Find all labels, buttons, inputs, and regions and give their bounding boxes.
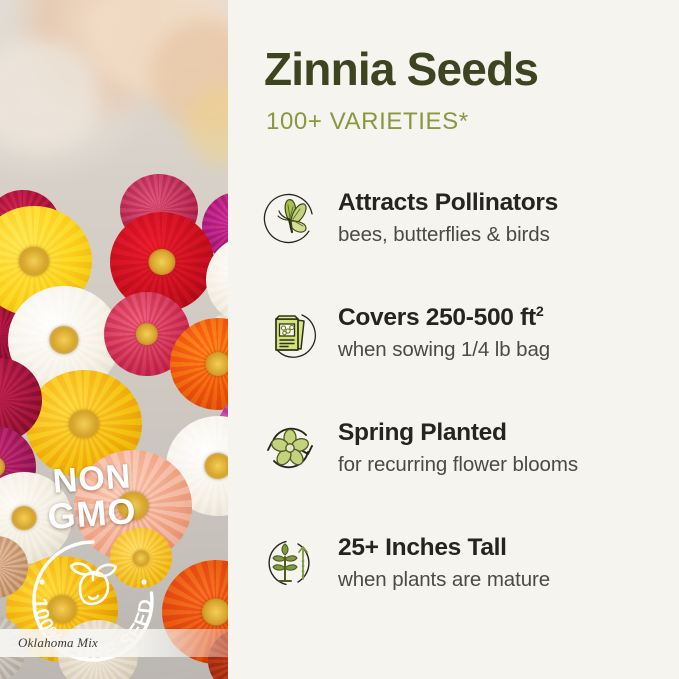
product-infographic: NON GMO 100% PURE SEED: [0, 0, 679, 679]
product-photo: NON GMO 100% PURE SEED: [0, 0, 228, 679]
feature-subtitle: when plants are mature: [338, 567, 550, 593]
feature-item: Spring Planted for recurring flower bloo…: [228, 416, 679, 531]
feature-text: Attracts Pollinators bees, butterflies &…: [338, 188, 558, 247]
feature-item: Covers 250-500 ft2 when sowing 1/4 lb ba…: [228, 301, 679, 416]
zinnia-bouquet: [0, 168, 228, 679]
feature-text: 25+ Inches Tall when plants are mature: [338, 533, 550, 592]
flower-recycle-icon: [262, 420, 318, 476]
photo-caption-band: Oklahoma Mix: [0, 629, 228, 657]
photo-caption: Oklahoma Mix: [18, 635, 98, 651]
feature-text: Covers 250-500 ft2 when sowing 1/4 lb ba…: [338, 303, 550, 362]
feature-subtitle: for recurring flower blooms: [338, 452, 578, 478]
page-subtitle: 100+ VARIETIES*: [266, 108, 469, 136]
page-title: Zinnia Seeds: [264, 46, 538, 92]
plant-height-icon: [262, 535, 318, 591]
feature-item: Attracts Pollinators bees, butterflies &…: [228, 186, 679, 301]
feature-title: Attracts Pollinators: [338, 188, 558, 219]
butterfly-icon: [262, 190, 318, 246]
feature-subtitle: bees, butterflies & birds: [338, 222, 558, 248]
feature-list: Attracts Pollinators bees, butterflies &…: [228, 186, 679, 646]
info-panel: Zinnia Seeds 100+ VARIETIES*: [228, 0, 679, 679]
feature-item: 25+ Inches Tall when plants are mature: [228, 531, 679, 646]
feature-text: Spring Planted for recurring flower bloo…: [338, 418, 578, 477]
feature-subtitle: when sowing 1/4 lb bag: [338, 337, 550, 363]
feature-title: Spring Planted: [338, 418, 578, 449]
feature-title: Covers 250-500 ft2: [338, 303, 550, 334]
feature-title: 25+ Inches Tall: [338, 533, 550, 564]
seed-packet-icon: [262, 305, 318, 361]
